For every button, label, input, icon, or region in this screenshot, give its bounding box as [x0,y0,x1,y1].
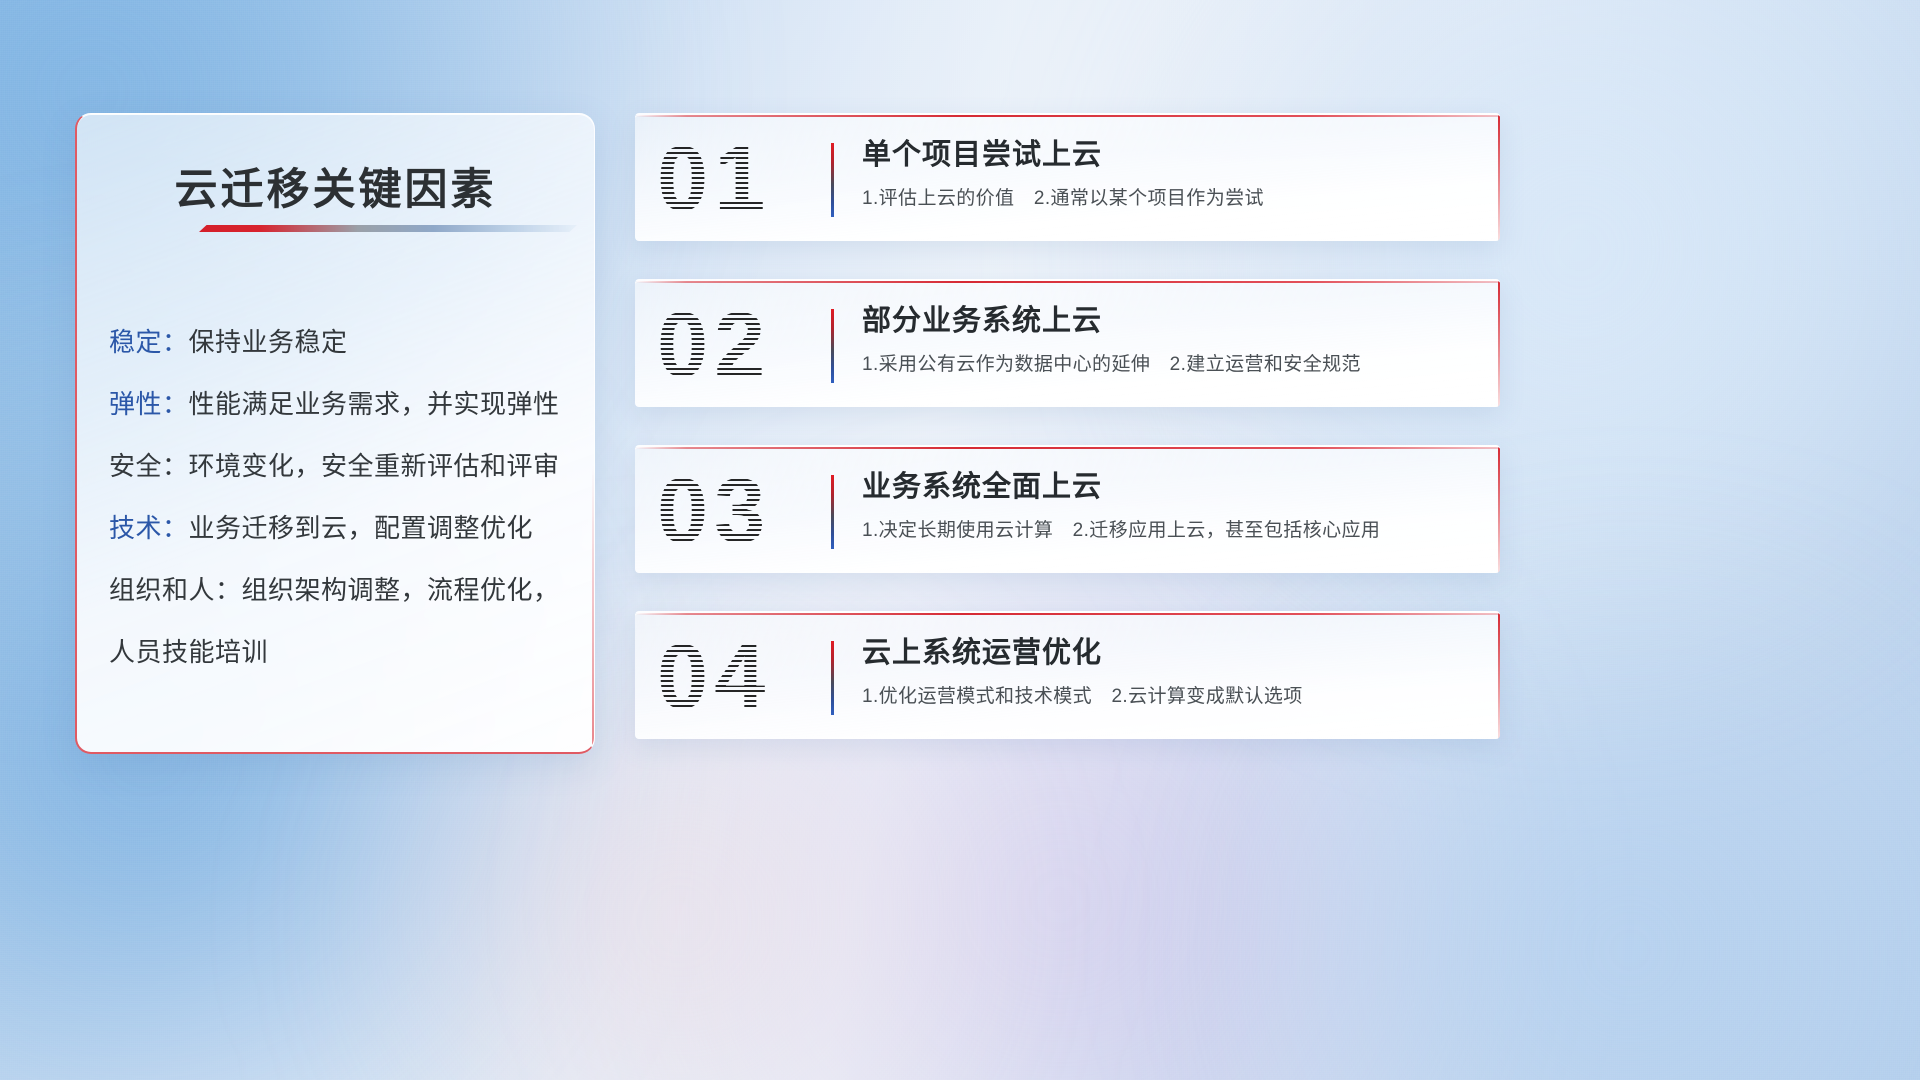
factor-label: 稳定： [109,311,189,373]
title-underline-rule [199,225,577,232]
stage-card-title: 部分业务系统上云 [862,299,1476,343]
factor-list: 稳定：保持业务稳定弹性：性能满足业务需求，并实现弹性安全：环境变化，安全重新评估… [109,311,576,683]
factor-row: 人员技能培训 [109,621,576,683]
factor-row: 技术：业务迁移到云，配置调整优化 [109,497,576,559]
stage-card-body: 部分业务系统上云1.采用公有云作为数据中心的延伸 2.建立运营和安全规范 [862,299,1476,379]
stage-card[interactable]: 02部分业务系统上云1.采用公有云作为数据中心的延伸 2.建立运营和安全规范 [635,279,1500,407]
factor-label: 组织和人： [109,559,242,621]
key-factors-panel: 云迁移关键因素 稳定：保持业务稳定弹性：性能满足业务需求，并实现弹性安全：环境变… [75,113,595,754]
accent-bar [831,475,834,549]
stage-card-title: 云上系统运营优化 [862,631,1476,675]
stage-card[interactable]: 03业务系统全面上云1.决定长期使用云计算 2.迁移应用上云，甚至包括核心应用 [635,445,1500,573]
stage-number-watermark: 03 [657,451,771,571]
factor-text: 组织架构调整，流程优化， [242,559,560,621]
stage-card-description: 1.评估上云的价值 2.通常以某个项目作为尝试 [862,185,1476,213]
accent-bar [831,309,834,383]
stage-card-title: 业务系统全面上云 [862,465,1476,509]
stage-number-watermark: 04 [657,617,771,737]
factor-row: 安全：环境变化，安全重新评估和评审 [109,435,576,497]
factor-row: 稳定：保持业务稳定 [109,311,576,373]
page-title: 云迁移关键因素 [175,155,497,217]
factor-text: 人员技能培训 [109,621,268,683]
stage-card-body: 单个项目尝试上云1.评估上云的价值 2.通常以某个项目作为尝试 [862,133,1476,213]
stage-number-watermark: 01 [657,119,771,239]
slide-stage: 云迁移关键因素 稳定：保持业务稳定弹性：性能满足业务需求，并实现弹性安全：环境变… [0,0,1920,1080]
stage-number-watermark: 02 [657,285,771,405]
factor-label: 安全： [109,435,189,497]
stage-card-description: 1.采用公有云作为数据中心的延伸 2.建立运营和安全规范 [862,351,1476,379]
factor-text: 环境变化，安全重新评估和评审 [189,435,560,497]
stage-card[interactable]: 01单个项目尝试上云1.评估上云的价值 2.通常以某个项目作为尝试 [635,113,1500,241]
factor-row: 组织和人：组织架构调整，流程优化， [109,559,576,621]
accent-bar [831,143,834,217]
stage-card-body: 云上系统运营优化1.优化运营模式和技术模式 2.云计算变成默认选项 [862,631,1476,711]
stage-card-description: 1.优化运营模式和技术模式 2.云计算变成默认选项 [862,683,1476,711]
accent-bar [831,641,834,715]
factor-text: 性能满足业务需求，并实现弹性 [189,373,560,435]
factor-label: 技术： [109,497,189,559]
stage-card[interactable]: 04云上系统运营优化1.优化运营模式和技术模式 2.云计算变成默认选项 [635,611,1500,739]
factor-label: 弹性： [109,373,189,435]
stage-card-list: 01单个项目尝试上云1.评估上云的价值 2.通常以某个项目作为尝试02部分业务系… [635,113,1500,777]
stage-card-body: 业务系统全面上云1.决定长期使用云计算 2.迁移应用上云，甚至包括核心应用 [862,465,1476,545]
factor-row: 弹性：性能满足业务需求，并实现弹性 [109,373,576,435]
factor-text: 保持业务稳定 [189,311,348,373]
stage-card-description: 1.决定长期使用云计算 2.迁移应用上云，甚至包括核心应用 [862,517,1476,545]
factor-text: 业务迁移到云，配置调整优化 [189,497,534,559]
stage-card-title: 单个项目尝试上云 [862,133,1476,177]
